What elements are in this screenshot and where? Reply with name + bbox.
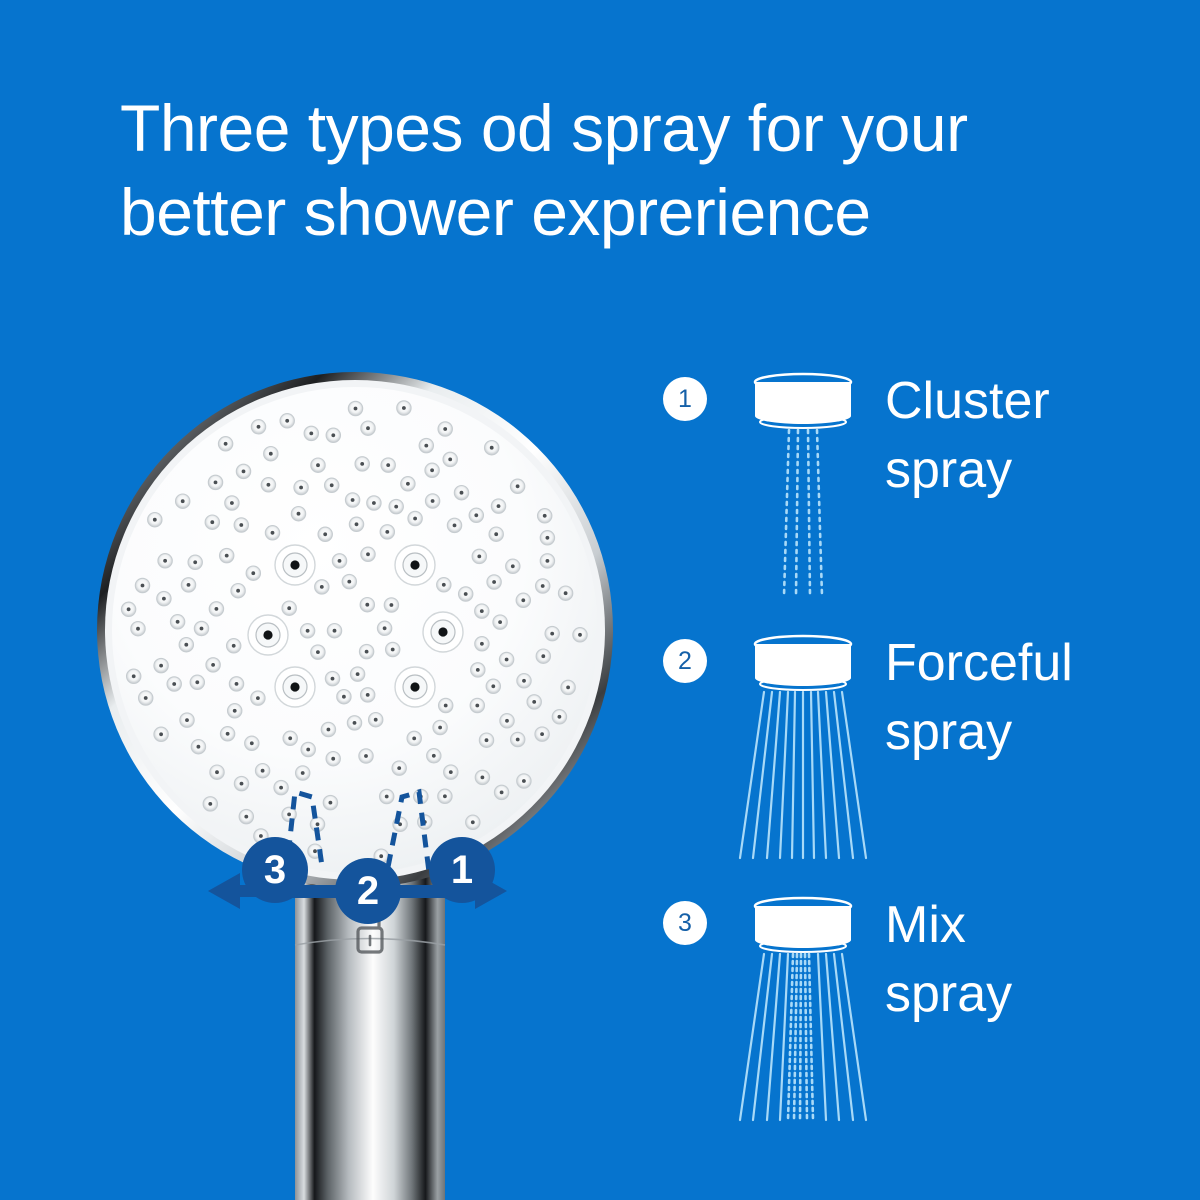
callout-badge-2[interactable]: 2 <box>335 858 401 924</box>
shower-head-cluster-spray-icon <box>728 360 878 600</box>
infographic-canvas: Three types od spray for your better sho… <box>0 0 1200 1200</box>
callout-badge-1[interactable]: 1 <box>429 837 495 903</box>
legend-item-mix-spray[interactable]: 3 <box>650 879 1170 1129</box>
callout-badge-2-label: 2 <box>357 869 379 913</box>
callout-badge-1-label: 1 <box>451 848 473 892</box>
legend-label-mix-spray: Mix spray <box>885 891 1165 1029</box>
spray-mode-legend: 1 Cluster spray 2 <box>650 355 1170 1145</box>
shower-head-forceful-spray-icon <box>728 622 878 862</box>
legend-badge-1: 1 <box>663 377 707 421</box>
legend-label-forceful-spray: Forceful spray <box>885 629 1165 767</box>
legend-item-cluster-spray[interactable]: 1 Cluster spray <box>650 355 1170 605</box>
legend-label-cluster-spray: Cluster spray <box>885 367 1165 505</box>
product-illustration: 3 2 1 <box>90 360 650 1200</box>
shower-head-face <box>97 372 613 888</box>
callout-badge-3[interactable]: 3 <box>242 837 308 903</box>
legend-item-forceful-spray[interactable]: 2 <box>650 617 1170 867</box>
page-title: Three types od spray for your better sho… <box>120 86 1110 255</box>
shower-head-mix-spray-icon <box>728 884 878 1124</box>
callout-badge-3-label: 3 <box>264 848 286 892</box>
legend-badge-2: 2 <box>663 639 707 683</box>
legend-badge-3: 3 <box>663 901 707 945</box>
